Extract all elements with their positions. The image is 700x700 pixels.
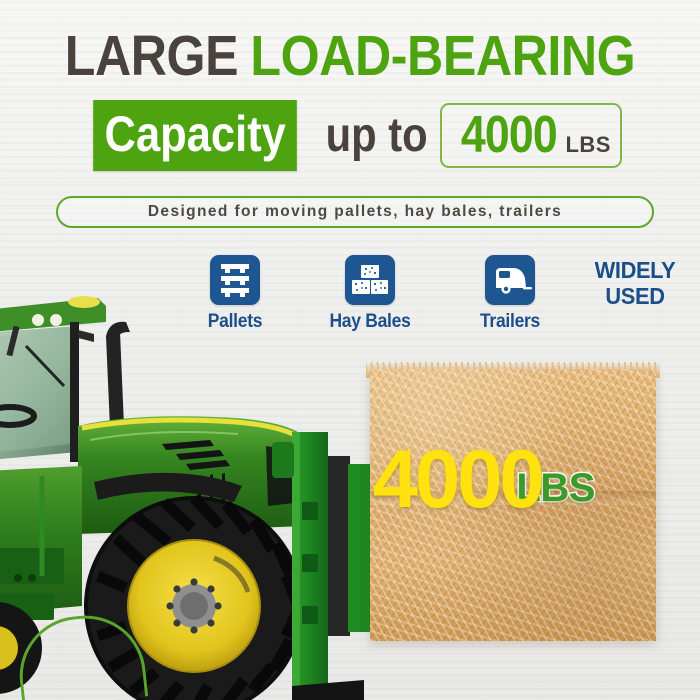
capacity-unit: LBS [565,134,611,156]
headline-line-2: Capacity up to 4000 LBS [0,100,700,171]
capacity-number: 4000 [461,109,557,161]
capacity-number-box: 4000 LBS [440,103,622,168]
trailers-icon-glyph [485,255,535,305]
subtitle-text: Designed for moving pallets, hay bales, … [148,203,562,221]
subtitle-pill: Designed for moving pallets, hay bales, … [56,196,654,228]
headline-word-capacity: Capacity [105,106,286,162]
widely-used-text: WIDELY USED [573,258,697,310]
capacity-highlight-block: Capacity [93,100,297,171]
headline-word-up-to: up to [326,112,428,160]
bale-capacity-number: 4000 [373,439,542,521]
headline-line-1: LARGELOAD-BEARING [42,28,658,85]
promo-banner: LARGELOAD-BEARING Capacity up to 4000 LB… [0,0,700,700]
trailers-icon [485,255,535,305]
widely-used-line-1: WIDELY [573,258,697,284]
bale-capacity-overlay: 4000 LBS [372,441,672,519]
headline-word-load-bearing: LOAD-BEARING [250,24,635,88]
feature-item-trailers: Trailers [455,255,565,333]
feature-label-trailers: Trailers [459,311,560,333]
headline-word-large: LARGE [65,24,238,88]
widely-used-line-2: USED [573,284,697,310]
